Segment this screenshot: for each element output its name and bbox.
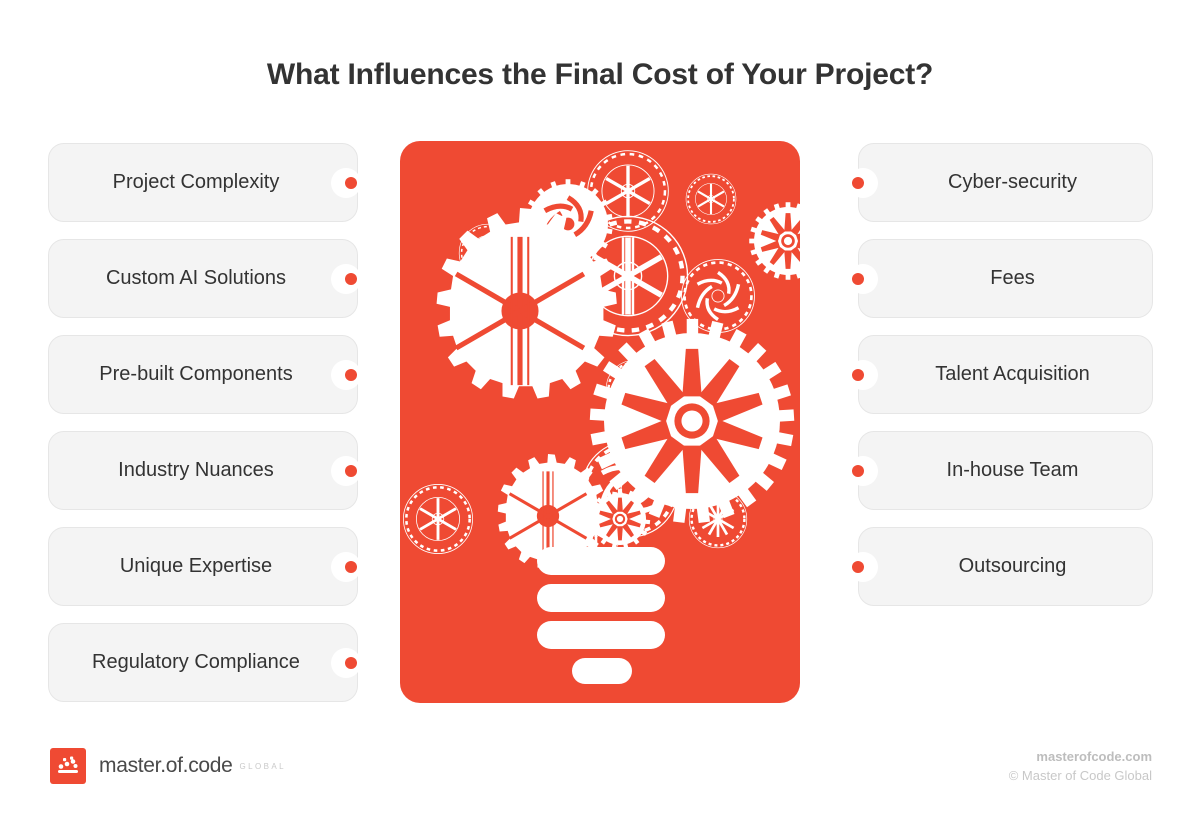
page-title: What Influences the Final Cost of Your P…: [0, 58, 1200, 92]
master-of-code-logo-icon: [50, 748, 86, 784]
list-item[interactable]: Regulatory Compliance: [48, 623, 358, 702]
footer-credits: masterofcode.com © Master of Code Global: [1009, 748, 1152, 786]
factor-pill[interactable]: Cyber-security: [858, 143, 1153, 222]
factor-label: Pre-built Components: [99, 363, 292, 386]
factor-pill[interactable]: Pre-built Components: [48, 335, 358, 414]
connector-dot-icon: [852, 465, 864, 477]
factor-label: Cyber-security: [948, 171, 1077, 194]
factor-label: Unique Expertise: [120, 555, 272, 578]
lightbulb-gears-illustration: [400, 141, 800, 703]
connector-dot-icon: [852, 177, 864, 189]
connector-dot-icon: [345, 657, 357, 669]
left-factor-column: Project Complexity Custom AI Solutions P…: [48, 143, 358, 719]
list-item[interactable]: Cyber-security: [843, 143, 1153, 222]
logo-wordmark-text: master.of.code: [99, 754, 233, 777]
connector-dot-icon: [345, 561, 357, 573]
factor-label: Project Complexity: [113, 171, 280, 194]
factor-pill[interactable]: Outsourcing: [858, 527, 1153, 606]
logo-wordmark: master.of.codeGLOBAL: [99, 754, 286, 778]
list-item[interactable]: Unique Expertise: [48, 527, 358, 606]
list-item[interactable]: Outsourcing: [843, 527, 1153, 606]
website-url[interactable]: masterofcode.com: [1009, 748, 1152, 767]
logo-global-text: GLOBAL: [240, 762, 286, 771]
factor-label: Outsourcing: [959, 555, 1067, 578]
right-factor-column: Cyber-security Fees Talent Acquisition I…: [843, 143, 1153, 623]
factor-pill[interactable]: Project Complexity: [48, 143, 358, 222]
factor-pill[interactable]: Talent Acquisition: [858, 335, 1153, 414]
factor-label: Industry Nuances: [118, 459, 274, 482]
factor-label: Fees: [990, 267, 1034, 290]
factor-pill[interactable]: Regulatory Compliance: [48, 623, 358, 702]
factor-pill[interactable]: Custom AI Solutions: [48, 239, 358, 318]
list-item[interactable]: Industry Nuances: [48, 431, 358, 510]
connector-dot-icon: [345, 177, 357, 189]
factor-label: Regulatory Compliance: [92, 651, 300, 674]
brand-logo[interactable]: master.of.codeGLOBAL: [50, 748, 286, 784]
list-item[interactable]: Fees: [843, 239, 1153, 318]
list-item[interactable]: In-house Team: [843, 431, 1153, 510]
connector-dot-icon: [852, 369, 864, 381]
factor-label: In-house Team: [947, 459, 1079, 482]
list-item[interactable]: Talent Acquisition: [843, 335, 1153, 414]
connector-dot-icon: [852, 561, 864, 573]
list-item[interactable]: Project Complexity: [48, 143, 358, 222]
infographic-root: What Influences the Final Cost of Your P…: [0, 0, 1200, 818]
connector-dot-icon: [852, 273, 864, 285]
list-item[interactable]: Custom AI Solutions: [48, 239, 358, 318]
factor-pill[interactable]: Unique Expertise: [48, 527, 358, 606]
factor-label: Talent Acquisition: [935, 363, 1090, 386]
factor-pill[interactable]: In-house Team: [858, 431, 1153, 510]
bulb-base: [537, 547, 665, 684]
connector-dot-icon: [345, 369, 357, 381]
gears-lightbulb-svg: [400, 141, 800, 703]
copyright-text: © Master of Code Global: [1009, 767, 1152, 786]
factor-label: Custom AI Solutions: [106, 267, 286, 290]
list-item[interactable]: Pre-built Components: [48, 335, 358, 414]
connector-dot-icon: [345, 465, 357, 477]
factor-pill[interactable]: Industry Nuances: [48, 431, 358, 510]
factor-pill[interactable]: Fees: [858, 239, 1153, 318]
connector-dot-icon: [345, 273, 357, 285]
